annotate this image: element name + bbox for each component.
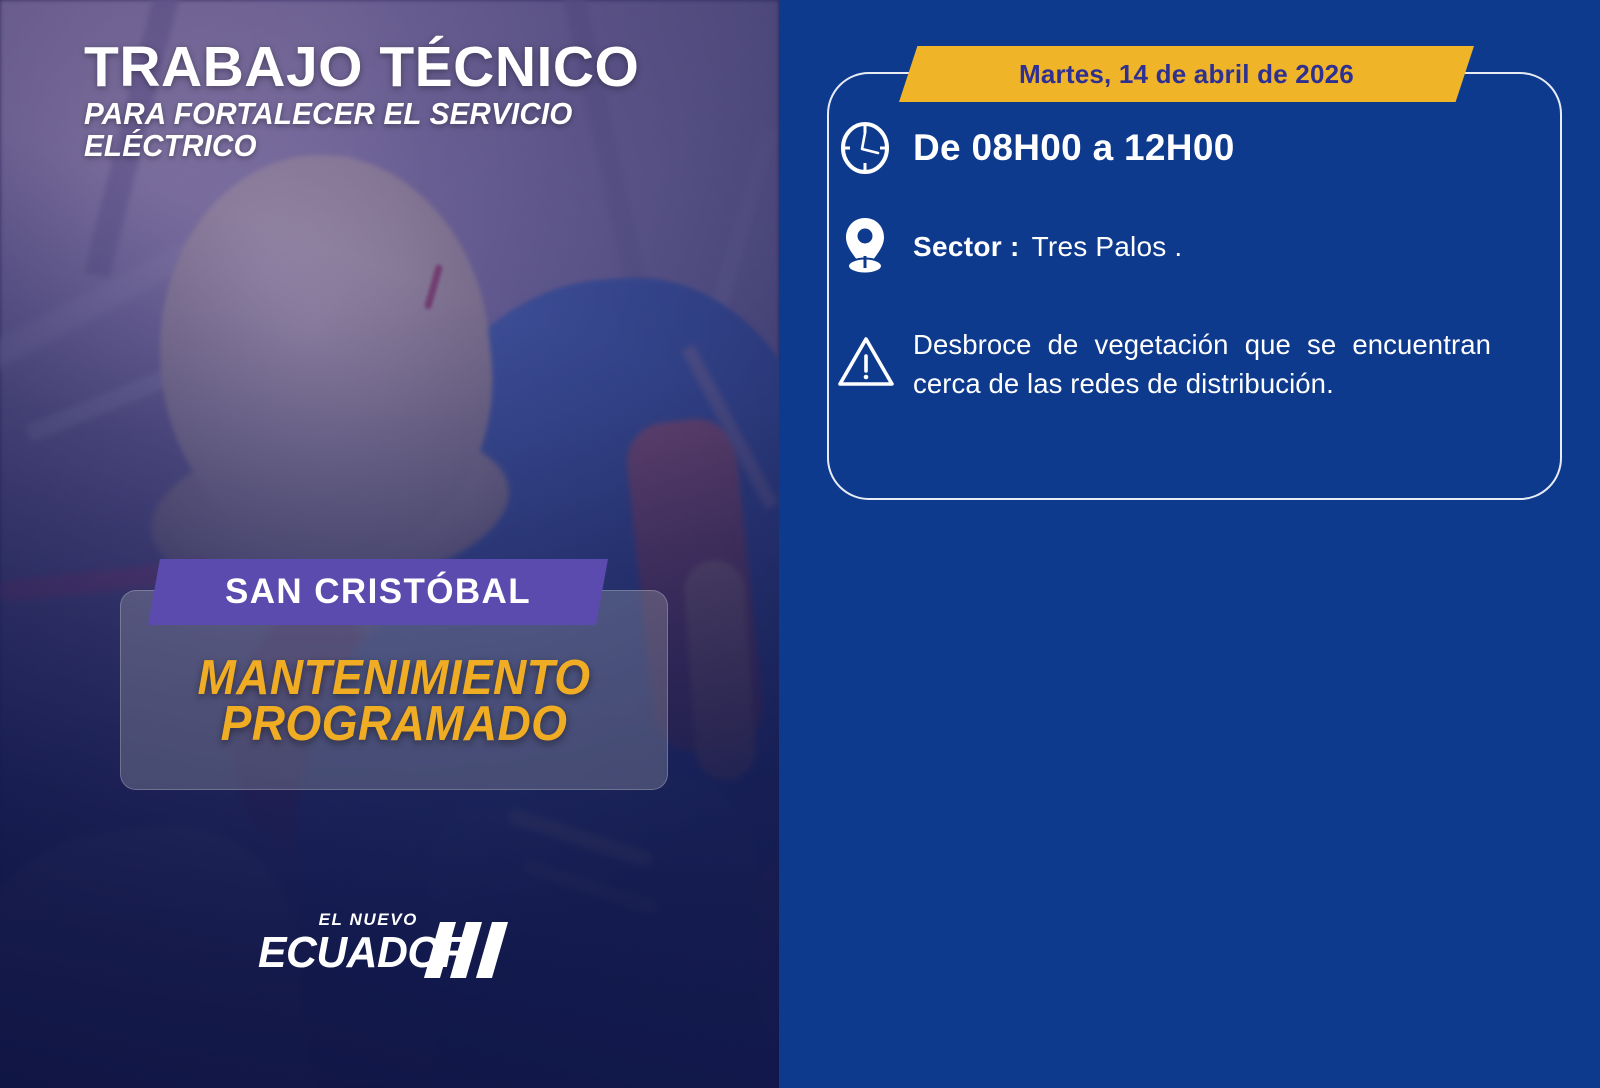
- schedule-time-text: De 08H00 a 12H00: [913, 127, 1235, 169]
- sector-label: Sector :: [913, 231, 1020, 263]
- maintenance-title-line1: MANTENIMIENTO: [136, 655, 651, 701]
- three-slanted-bars-icon: [430, 922, 514, 978]
- maintenance-title: MANTENIMIENTO PROGRAMADO: [120, 655, 668, 747]
- headline-primary: TRABAJO TÉCNICO: [84, 40, 724, 96]
- left-photo-panel: TRABAJO TÉCNICO PARA FORTALECER EL SERVI…: [0, 0, 779, 1088]
- sector-row: Sector : Tres Palos .: [835, 215, 1495, 279]
- warning-triangle-icon: [835, 333, 897, 391]
- location-pin-icon: [835, 215, 895, 279]
- warning-row: Desbroce de vegetación que se encuentran…: [835, 325, 1515, 403]
- schedule-row: De 08H00 a 12H00: [835, 118, 1495, 178]
- date-banner: Martes, 14 de abril de 2026: [899, 46, 1474, 102]
- right-info-panel: Martes, 14 de abril de 2026 De 08H00 a 1…: [779, 0, 1600, 1088]
- clock-icon: [835, 118, 895, 178]
- headline-secondary: PARA FORTALECER EL SERVICIO ELÉCTRICO: [84, 98, 705, 163]
- warning-text: Desbroce de vegetación que se encuentran…: [913, 325, 1491, 403]
- ecuador-logo-top-text: EL NUEVO: [319, 910, 418, 930]
- city-badge-label: SAN CRISTÓBAL: [225, 572, 531, 612]
- city-badge: SAN CRISTÓBAL: [148, 559, 608, 625]
- maintenance-notice-poster: TRABAJO TÉCNICO PARA FORTALECER EL SERVI…: [0, 0, 1600, 1088]
- headline-block: TRABAJO TÉCNICO PARA FORTALECER EL SERVI…: [84, 40, 724, 163]
- date-banner-label: Martes, 14 de abril de 2026: [1019, 59, 1354, 90]
- ecuador-government-logo: EL NUEVO ECUADOR: [258, 908, 508, 984]
- maintenance-title-line2: PROGRAMADO: [136, 701, 651, 747]
- sector-value: Tres Palos .: [1032, 231, 1183, 263]
